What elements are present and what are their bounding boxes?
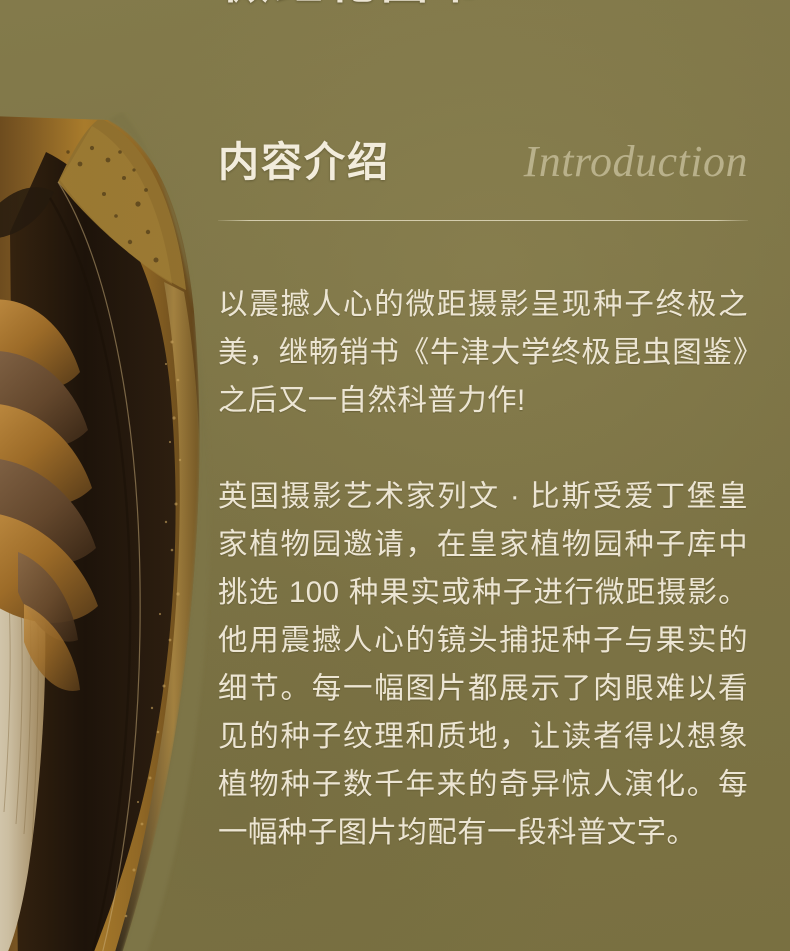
banner-title-cropped: 微距花图书 — [222, 0, 642, 16]
content-column: 内容介绍 Introduction 以震撼人心的微距摄影呈现种子终极之美，继畅销… — [218, 140, 748, 857]
header-divider-rule — [218, 220, 748, 221]
seed-pod-illustration — [0, 112, 218, 951]
intro-paragraph-1: 以震撼人心的微距摄影呈现种子终极之美，继畅销书《牛津大学终极昆虫图鉴》之后又一自… — [218, 281, 748, 425]
body-copy: 以震撼人心的微距摄影呈现种子终极之美，继畅销书《牛津大学终极昆虫图鉴》之后又一自… — [218, 281, 748, 857]
promo-page: 微距花图书 — [0, 0, 790, 951]
intro-paragraph-2: 英国摄影艺术家列文 · 比斯受爱丁堡皇家植物园邀请，在皇家植物园种子库中挑选 1… — [218, 473, 748, 857]
section-heading-chinese: 内容介绍 — [218, 142, 390, 183]
section-header: 内容介绍 Introduction — [218, 140, 748, 210]
seed-pod-figure: seed-pod-macro-photograph — [0, 112, 218, 951]
section-heading-english: Introduction — [524, 140, 748, 184]
